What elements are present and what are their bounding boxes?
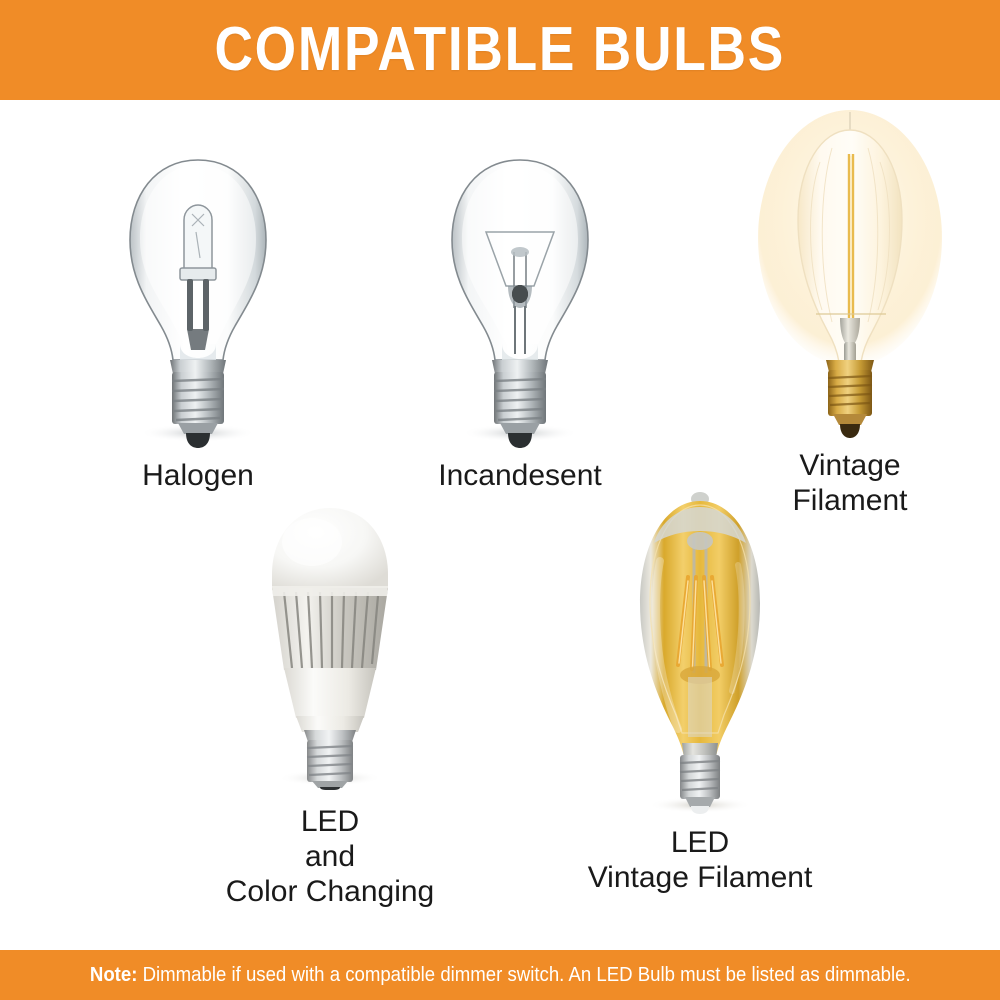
page-title: COMPATIBLE BULBS — [215, 19, 786, 81]
bulb-card-led-vintage-filament: LED Vintage Filament — [520, 485, 880, 895]
bulb-card-halogen: Halogen — [38, 148, 358, 493]
bulb-card-led-color-changing: LED and Color Changing — [165, 500, 495, 909]
bulb-card-vintage-filament: Vintage Filament — [700, 110, 1000, 518]
header-banner: COMPATIBLE BULBS — [0, 0, 1000, 100]
bulb-label-led-vintage-filament: LED Vintage Filament — [588, 825, 813, 895]
bulb-label-led-color-changing: LED and Color Changing — [226, 804, 434, 909]
note-prefix: Note: — [90, 964, 138, 986]
bulbs-grid: Halogen — [0, 100, 1000, 950]
halogen-bulb-icon — [108, 148, 288, 448]
led-vintage-filament-bulb-icon — [600, 485, 800, 815]
bulb-label-halogen: Halogen — [142, 458, 254, 493]
compatible-bulbs-infographic: COMPATIBLE BULBS — [0, 0, 1000, 1000]
dimmable-note: Note: Dimmable if used with a compatible… — [90, 965, 911, 985]
vintage-filament-bulb-icon — [750, 110, 950, 440]
incandescent-bulb-icon — [430, 148, 610, 448]
footer-banner: Note: Dimmable if used with a compatible… — [0, 950, 1000, 1000]
led-bulb-icon — [240, 500, 420, 790]
bulb-card-incandescent: Incandesent — [360, 148, 680, 493]
note-text: Dimmable if used with a compatible dimme… — [137, 964, 910, 986]
